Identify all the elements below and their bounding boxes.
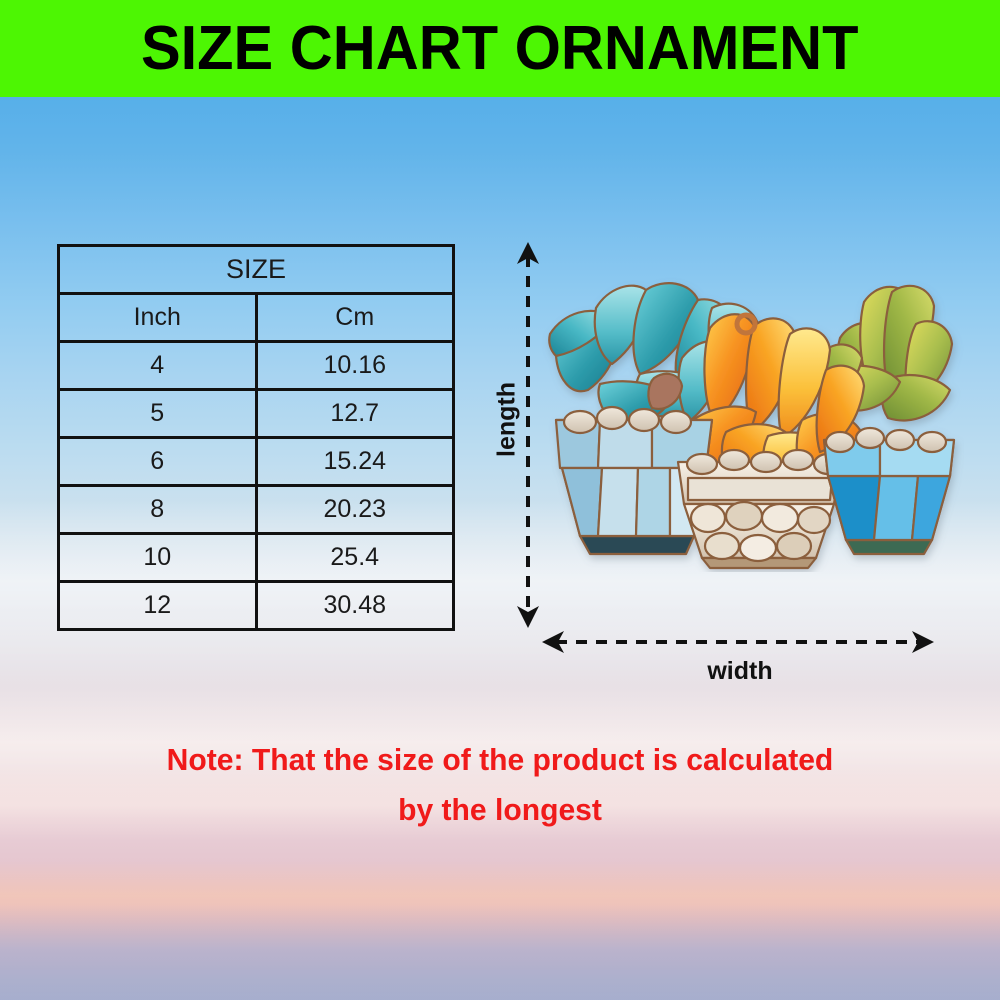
cell-inch: 6 [59,438,257,486]
width-arrow-icon [540,626,936,658]
header-banner: SIZE CHART ORNAMENT [0,0,1000,97]
table-row-columns: Inch Cm [59,294,454,342]
column-header-inch: Inch [59,294,257,342]
cell-cm: 15.24 [256,438,454,486]
size-table: SIZE Inch Cm 4 10.16 5 12.7 6 15.24 8 20… [57,244,455,631]
cell-inch: 5 [59,390,257,438]
size-chart-page: SIZE CHART ORNAMENT SIZE Inch Cm 4 10.16… [0,0,1000,1000]
cell-cm: 20.23 [256,486,454,534]
cell-inch: 12 [59,582,257,630]
size-table-title: SIZE [59,246,454,294]
page-title: SIZE CHART ORNAMENT [141,18,859,80]
cell-inch: 8 [59,486,257,534]
length-label: length [493,375,522,465]
center-pot [678,450,842,568]
table-row-header: SIZE [59,246,454,294]
column-header-cm: Cm [256,294,454,342]
cell-cm: 10.16 [256,342,454,390]
cell-cm: 25.4 [256,534,454,582]
table-row: 4 10.16 [59,342,454,390]
product-image-succulent-suncatcher [540,272,964,572]
cell-cm: 30.48 [256,582,454,630]
right-pot [824,428,954,554]
note-text: Note: That the size of the product is ca… [73,735,927,835]
cell-inch: 10 [59,534,257,582]
table-row: 6 15.24 [59,438,454,486]
table-row: 10 25.4 [59,534,454,582]
table-row: 12 30.48 [59,582,454,630]
note-line-2: by the longest [398,792,602,827]
table-row: 8 20.23 [59,486,454,534]
note-line-1: Note: That the size of the product is ca… [167,742,834,777]
cell-inch: 4 [59,342,257,390]
cell-cm: 12.7 [256,390,454,438]
table-row: 5 12.7 [59,390,454,438]
width-label: width [600,657,880,686]
